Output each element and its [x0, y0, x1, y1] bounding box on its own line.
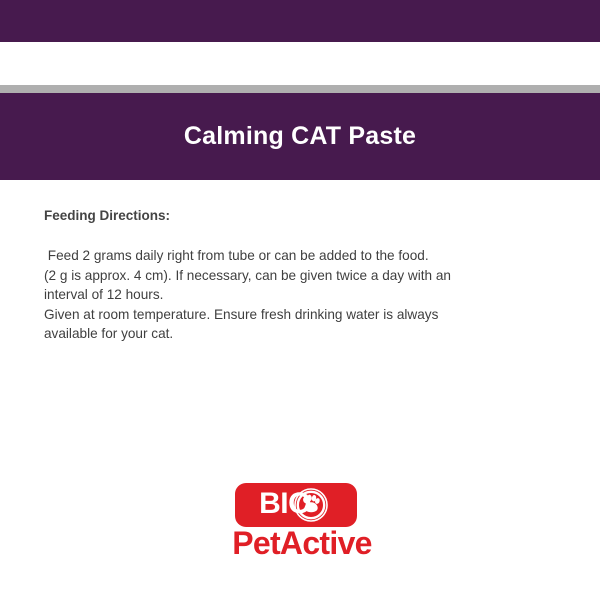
- paw-print-icon: [294, 488, 328, 522]
- feeding-directions-section: Feeding Directions: Feed 2 grams daily r…: [44, 208, 544, 344]
- top-decorative-bar: [0, 0, 600, 42]
- title-band: Calming CAT Paste: [0, 93, 600, 180]
- brand-logo: BIO PetActive: [222, 483, 382, 563]
- paragraph-line: (2 g is approx. 4 cm). If necessary, can…: [44, 266, 544, 286]
- paragraph-line: Feed 2 grams daily right from tube or ca…: [44, 246, 544, 266]
- logo-wordmark: PetActive: [222, 527, 382, 561]
- feeding-directions-paragraph: Feed 2 grams daily right from tube or ca…: [44, 246, 544, 344]
- paragraph-line: available for your cat.: [44, 324, 544, 344]
- page-title: Calming CAT Paste: [184, 124, 416, 149]
- section-heading-feeding-directions: Feeding Directions:: [44, 208, 544, 224]
- paragraph-line: interval of 12 hours.: [44, 285, 544, 305]
- paragraph-line: Given at room temperature. Ensure fresh …: [44, 305, 544, 325]
- gray-separator-rule: [0, 85, 600, 93]
- product-label-page: Calming CAT Paste Feeding Directions: Fe…: [0, 0, 600, 600]
